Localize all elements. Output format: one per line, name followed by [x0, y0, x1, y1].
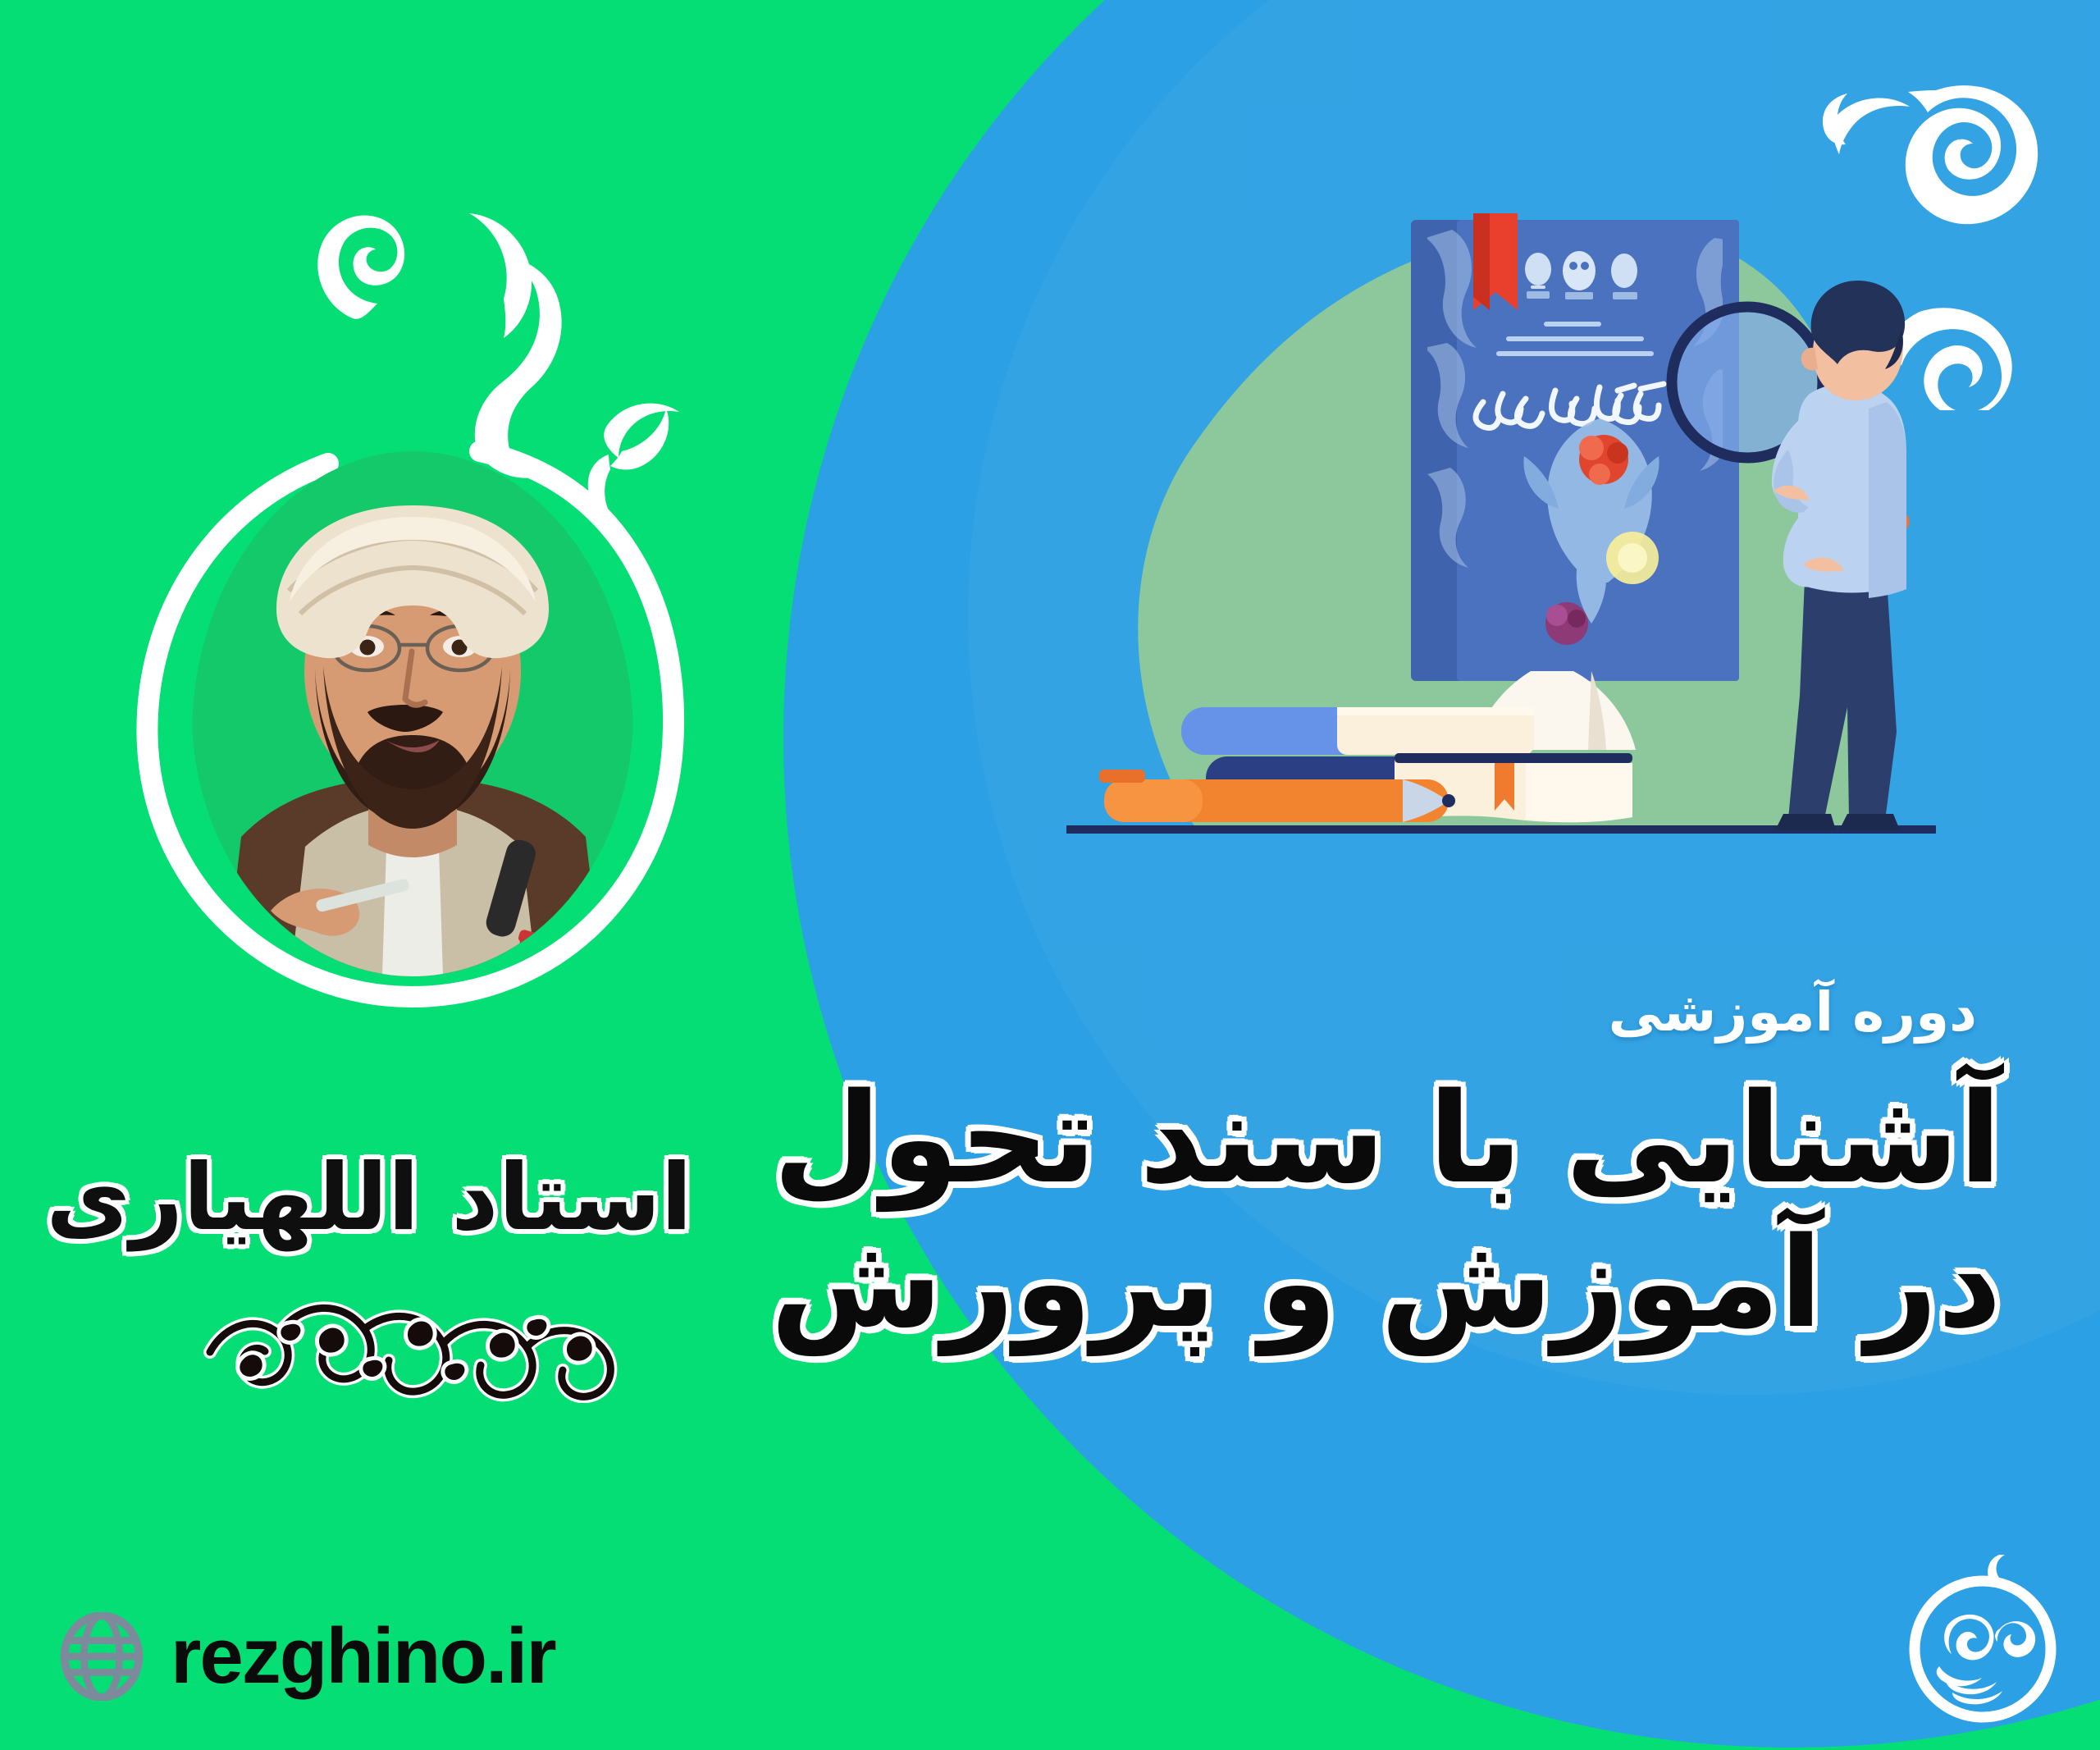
- floral-vine-divider-icon: [197, 1280, 623, 1403]
- instructor-photo-illustration: [192, 451, 633, 976]
- book-inspection-illustration: [1066, 123, 1936, 886]
- website-url: rezghino.ir: [171, 1617, 555, 1696]
- website-link[interactable]: rezghino.ir: [57, 1612, 555, 1701]
- book-emblems: [1525, 251, 1637, 299]
- illustration-svg: [1066, 123, 1936, 886]
- calligraphic-circle-logo-icon: [1888, 1555, 2077, 1743]
- instructor-portrait-block: [107, 98, 714, 1058]
- flower-yellow: [1606, 532, 1659, 584]
- flower-purple: [1545, 602, 1588, 645]
- globe-icon: [57, 1612, 146, 1701]
- instructor-photo: [192, 451, 633, 976]
- instructor-name: استاد اللهیاری: [0, 1145, 738, 1251]
- course-headline-line-1: آشنایی با سند تحول: [837, 1067, 2002, 1211]
- poster-canvas: استاد اللهیاری: [0, 0, 2100, 1750]
- course-headline-line-2: در آموزش و پرورش: [837, 1211, 2002, 1355]
- course-headline: آشنایی با سند تحول در آموزش و پرورش: [837, 1067, 2002, 1356]
- course-eyebrow-label: دوره آموزشی: [1609, 980, 1977, 1044]
- document-book-cover: [1411, 213, 1741, 681]
- stacked-book-light-blue: [1181, 707, 1534, 755]
